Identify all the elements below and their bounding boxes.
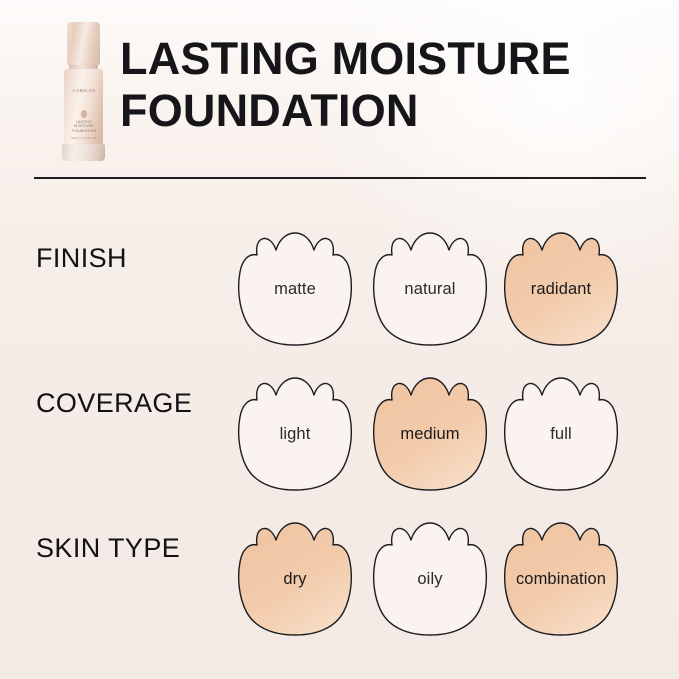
attribute-option-selected[interactable]: dry — [238, 521, 352, 637]
bottle-cap — [67, 22, 100, 65]
attribute-option-shape — [238, 376, 352, 492]
attribute-row: FINISHmattenaturalradidant — [0, 186, 679, 331]
attribute-option-shape — [373, 376, 487, 492]
bottle-brand-text: CARSLAN — [58, 88, 110, 93]
attribute-option-shape — [238, 521, 352, 637]
attribute-row-label: FINISH — [36, 186, 127, 331]
attribute-option-group: mattenaturalradidant — [238, 186, 679, 331]
attribute-option[interactable]: matte — [238, 231, 352, 347]
bottle-label-text: LASTING MOISTURE FOUNDATION — [58, 120, 110, 133]
page-header: CARSLAN LASTING MOISTURE FOUNDATION 30ml… — [0, 0, 679, 186]
attribute-option-shape — [504, 376, 618, 492]
attribute-option-selected[interactable]: radidant — [504, 231, 618, 347]
attribute-option-shape — [504, 521, 618, 637]
attribute-option-selected[interactable]: medium — [373, 376, 487, 492]
attribute-row: SKIN TYPEdryoilycombination — [0, 476, 679, 621]
page-title-line-2: FOUNDATION — [120, 85, 660, 137]
bottle-volume-text: 30ml / 1.0 FL.OZ — [58, 136, 110, 140]
page-title-line-1: LASTING MOISTURE — [120, 33, 660, 85]
attribute-rows: FINISHmattenaturalradidantCOVERAGElightm… — [0, 186, 679, 621]
attribute-option-shape — [373, 521, 487, 637]
attribute-option-selected[interactable]: combination — [504, 521, 618, 637]
attribute-row-label: SKIN TYPE — [36, 476, 180, 621]
bottle-base — [62, 144, 105, 161]
infographic-page: CARSLAN LASTING MOISTURE FOUNDATION 30ml… — [0, 0, 679, 679]
bottle-label-line2: MOISTURE — [74, 124, 94, 128]
product-bottle-image: CARSLAN LASTING MOISTURE FOUNDATION 30ml… — [58, 22, 110, 162]
attribute-row: COVERAGElightmediumfull — [0, 331, 679, 476]
page-title: LASTING MOISTURE FOUNDATION — [120, 33, 660, 137]
bottle-label-line3: FOUNDATION — [72, 129, 97, 133]
attribute-option-shape — [373, 231, 487, 347]
attribute-option[interactable]: natural — [373, 231, 487, 347]
bottle-label-line1: LASTING — [76, 120, 92, 124]
header-divider — [34, 177, 646, 179]
attribute-option[interactable]: light — [238, 376, 352, 492]
attribute-row-label: COVERAGE — [36, 331, 192, 476]
attribute-option-shape — [504, 231, 618, 347]
attribute-option[interactable]: oily — [373, 521, 487, 637]
attribute-option-group: dryoilycombination — [238, 476, 679, 621]
attribute-option-shape — [238, 231, 352, 347]
attribute-option-group: lightmediumfull — [238, 331, 679, 476]
attribute-option[interactable]: full — [504, 376, 618, 492]
bottle-emblem-icon — [81, 110, 87, 118]
